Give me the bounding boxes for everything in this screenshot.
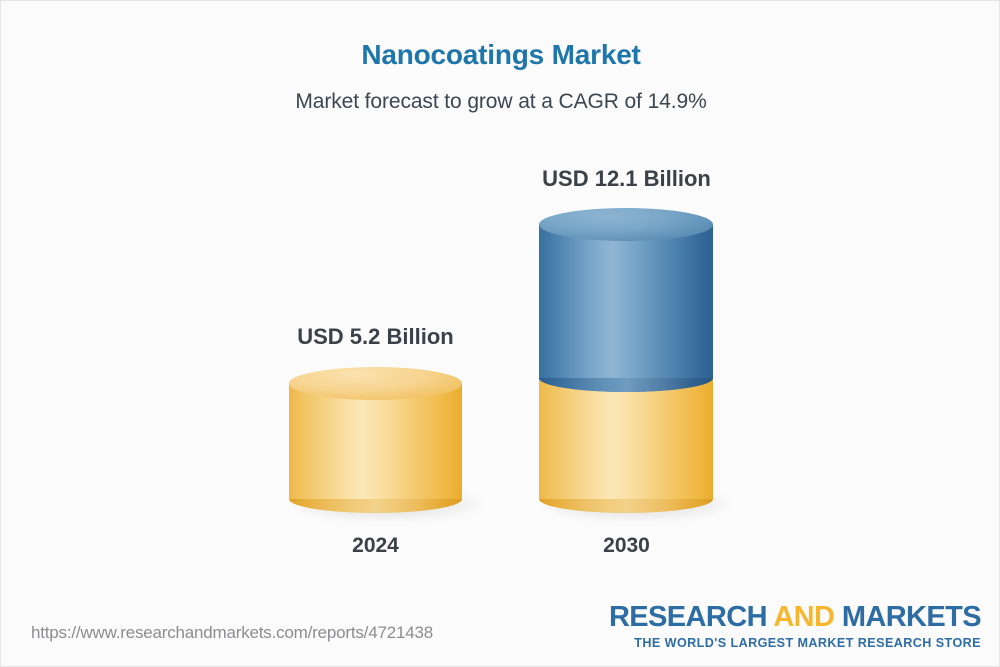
category-label-2030: 2030 (500, 534, 753, 558)
bar-top-cap-2030[interactable] (539, 208, 713, 241)
plot-area: USD 5.2 Billion 2024 USD 12.1 Billion (1, 1, 1000, 601)
bar-segment-base-2030[interactable] (539, 378, 713, 499)
report-url[interactable]: https://www.researchandmarkets.com/repor… (31, 623, 433, 643)
logo-word-and-text: AND (773, 601, 834, 633)
chart-canvas: Nanocoatings Market Market forecast to g… (0, 0, 1000, 667)
bar-value-label-2024: USD 5.2 Billion (249, 324, 502, 350)
logo-word-research: RESEARCH (609, 601, 767, 633)
bar-body-2024[interactable] (289, 383, 462, 499)
bar-top-cap-2024[interactable] (289, 367, 462, 400)
brand-logo[interactable]: RESEARCH AND MARKETS THE WORLD'S LARGEST… (609, 603, 981, 650)
logo-tagline: THE WORLD'S LARGEST MARKET RESEARCH STOR… (609, 636, 981, 650)
bar-segment-growth-overlay-2030 (539, 224, 713, 378)
bar-value-label-2030: USD 12.1 Billion (500, 166, 753, 192)
logo-word-markets: MARKETS (842, 601, 981, 633)
logo-wordmark: RESEARCH AND MARKETS (609, 603, 981, 633)
logo-word-markets-space (834, 601, 841, 633)
category-label-2024: 2024 (249, 534, 502, 558)
